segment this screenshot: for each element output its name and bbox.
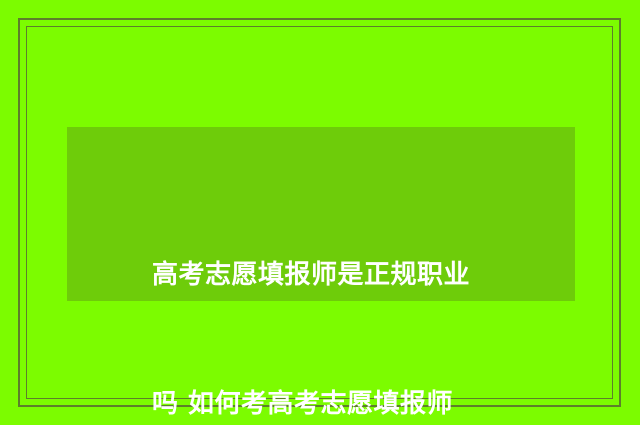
- headline-line-1: 高考志愿填报师是正规职业: [152, 254, 512, 297]
- headline-text-block: 高考志愿填报师是正规职业 吗 如何考高考志愿填报师: [152, 168, 512, 425]
- headline-line-2: 吗 如何考高考志愿填报师: [152, 383, 512, 425]
- poster-canvas: 高考志愿填报师是正规职业 吗 如何考高考志愿填报师: [0, 0, 640, 425]
